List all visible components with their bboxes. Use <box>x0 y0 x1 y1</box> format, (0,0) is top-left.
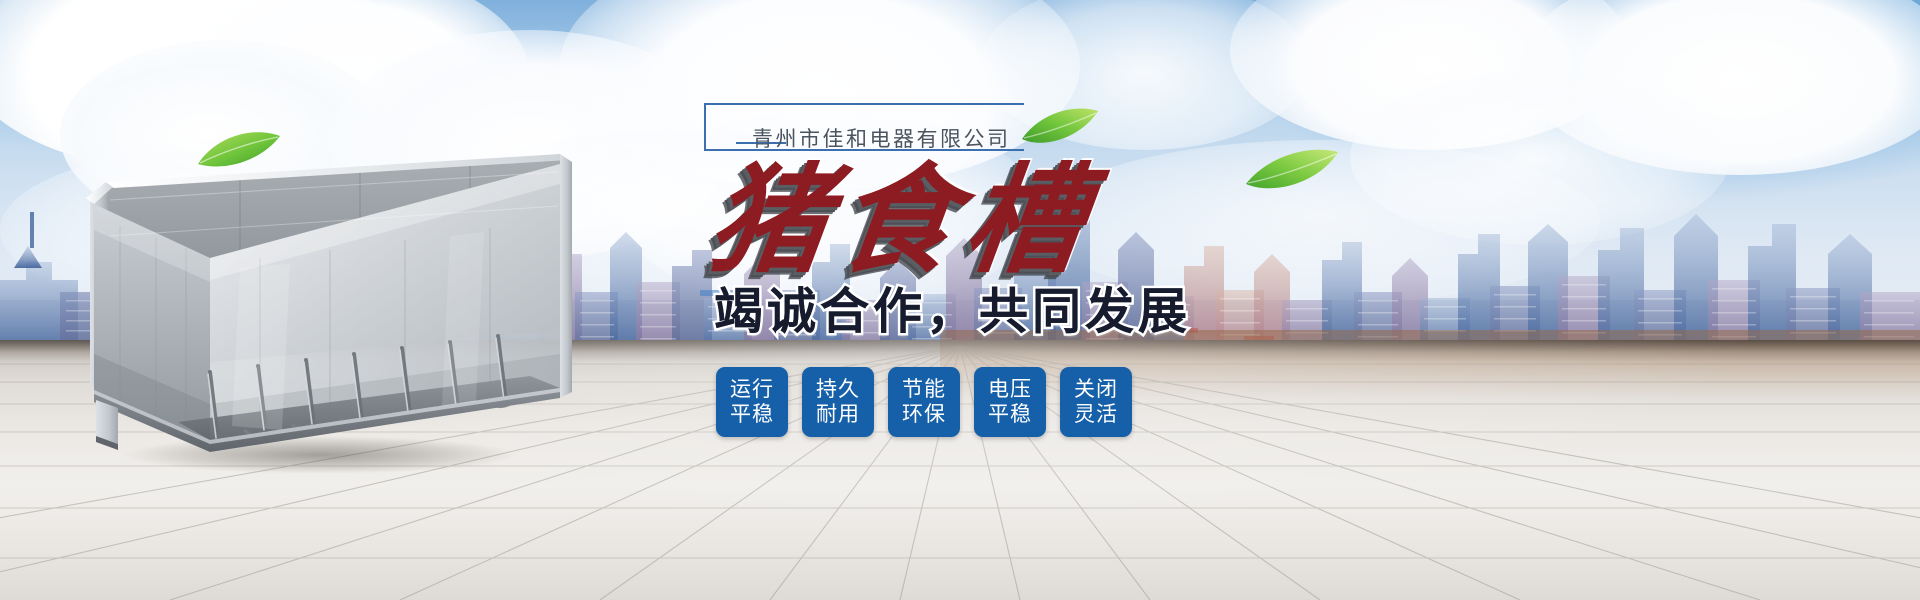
feature-badge[interactable]: 电压 平稳 <box>974 367 1046 437</box>
company-name: 青州市佳和电器有限公司 <box>752 123 1011 153</box>
feature-badge-line2: 灵活 <box>1074 402 1118 427</box>
feature-badge-line1: 节能 <box>902 377 946 402</box>
company-name-group: 青州市佳和电器有限公司 <box>690 95 1330 157</box>
feature-badge[interactable]: 节能 环保 <box>888 367 960 437</box>
feature-badge-line1: 持久 <box>816 377 860 402</box>
feature-badge-list: 运行 平稳 持久 耐用 节能 环保 电压 平稳 关闭 灵活 <box>716 367 1132 437</box>
feature-badge[interactable]: 运行 平稳 <box>716 367 788 437</box>
feature-badge-line1: 电压 <box>988 377 1032 402</box>
green-leaf-icon <box>196 130 282 172</box>
main-title: 猪食槽 <box>703 161 1102 279</box>
feature-badge-line2: 平稳 <box>988 402 1032 427</box>
product-image-pig-feeding-trough <box>60 140 580 470</box>
feature-badge-line2: 环保 <box>902 402 946 427</box>
feature-badge[interactable]: 关闭 灵活 <box>1060 367 1132 437</box>
promo-banner: 青州市佳和电器有限公司 猪食槽 竭诚合作，共同发展 竭诚合作，共同发展 运行 平… <box>0 0 1920 600</box>
feature-badge-line1: 运行 <box>730 377 774 402</box>
feature-badge-line2: 耐用 <box>816 402 860 427</box>
main-title-group: 猪食槽 <box>710 161 1310 286</box>
feature-badge-line2: 平稳 <box>730 402 774 427</box>
feature-badge-line1: 关闭 <box>1074 377 1118 402</box>
feature-badge[interactable]: 持久 耐用 <box>802 367 874 437</box>
banner-copy-block: 青州市佳和电器有限公司 猪食槽 竭诚合作，共同发展 竭诚合作，共同发展 运行 平… <box>690 95 1330 470</box>
subtitle: 竭诚合作，共同发展 <box>714 285 1191 339</box>
